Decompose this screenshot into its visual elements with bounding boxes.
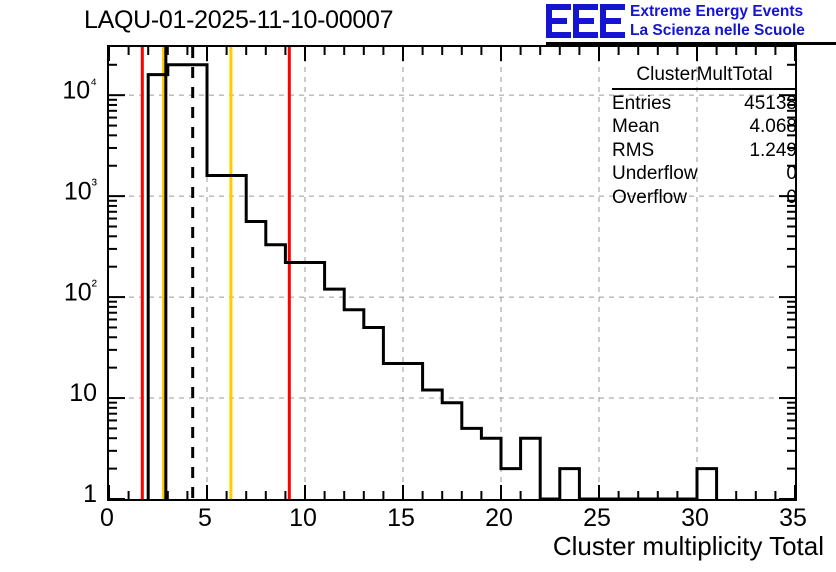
x-tick-label: 25	[583, 504, 611, 533]
stats-row: Underflow0	[612, 162, 797, 186]
y-tick-label: 10	[69, 379, 97, 408]
stats-key: Overflow	[612, 186, 687, 210]
logo-text: Extreme Energy Events La Scienza nelle S…	[630, 3, 805, 40]
x-tick-label: 10	[289, 504, 317, 533]
stats-key: Entries	[612, 92, 671, 116]
logo-line-1: Extreme Energy Events	[630, 3, 805, 22]
x-tick-label: 30	[681, 504, 709, 533]
stats-key: RMS	[612, 139, 654, 163]
page-title: LAQU-01-2025-11-10-00007	[84, 6, 393, 35]
stats-rows: Entries45138Mean4.068RMS1.249Underflow0O…	[612, 92, 797, 210]
stats-row: RMS1.249	[612, 139, 797, 163]
stats-title: ClusterMultTotal	[612, 63, 797, 90]
eee-logo: Extreme Energy Events La Scienza nelle S…	[546, 2, 834, 42]
stats-value: 45138	[744, 92, 797, 116]
stats-row: Mean4.068	[612, 115, 797, 139]
eee-mark-icon	[546, 4, 626, 38]
y-tick-label: 10²	[64, 278, 97, 307]
x-tick-label: 5	[198, 504, 212, 533]
root-canvas: LAQU-01-2025-11-10-00007 Extreme Energy …	[0, 0, 836, 572]
y-tick-label: 10⁴	[62, 76, 97, 105]
x-axis-title: Cluster multiplicity Total	[553, 531, 824, 562]
x-tick-label: 15	[387, 504, 415, 533]
marker-lines	[142, 47, 289, 499]
stats-key: Underflow	[612, 162, 698, 186]
stats-box: ClusterMultTotal Entries45138Mean4.068RM…	[612, 63, 797, 209]
x-tick-label: 20	[485, 504, 513, 533]
y-tick-label: 1	[83, 480, 97, 509]
stats-row: Overflow0	[612, 186, 797, 210]
logo-line-2: La Scienza nelle Scuole	[630, 22, 805, 41]
stats-value: 0	[786, 186, 797, 210]
y-tick-label: 10³	[64, 177, 97, 206]
stats-row: Entries45138	[612, 92, 797, 116]
stats-value: 1.249	[749, 139, 797, 163]
x-tick-label: 35	[779, 504, 807, 533]
stats-key: Mean	[612, 115, 660, 139]
stats-value: 0	[786, 162, 797, 186]
stats-value: 4.068	[749, 115, 797, 139]
x-tick-label: 0	[100, 504, 114, 533]
